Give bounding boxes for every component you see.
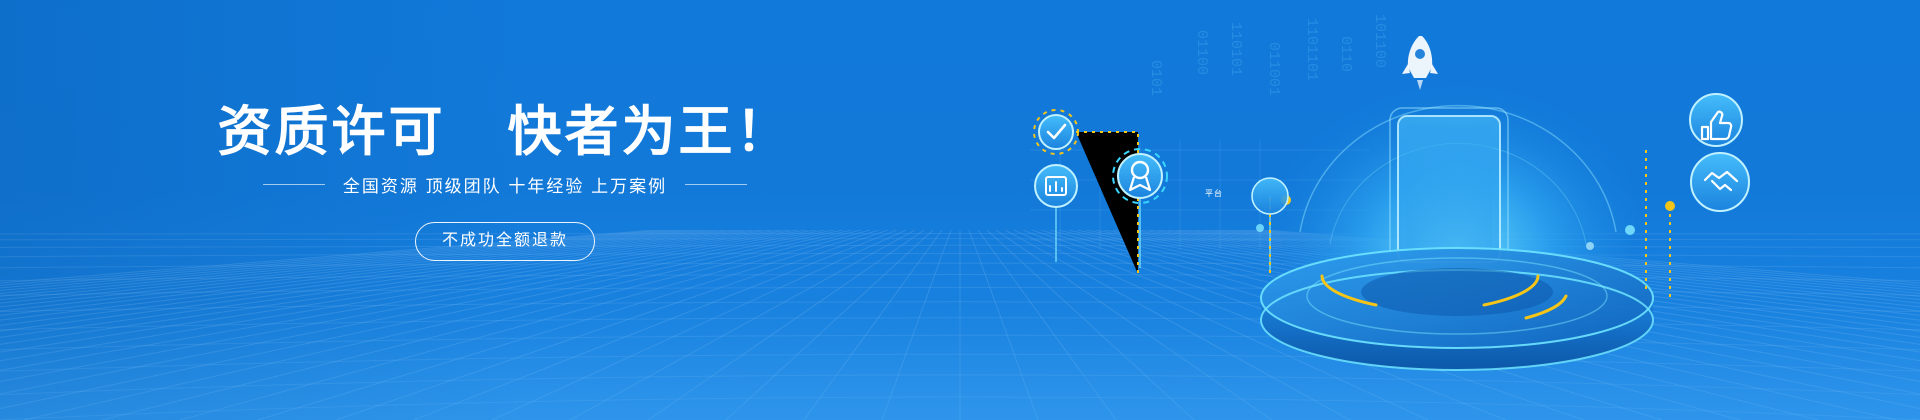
chart-icon	[1035, 165, 1077, 207]
svg-text:0110: 0110	[1337, 36, 1354, 72]
copy-block: 资质许可 快者为王！ 全国资源 顶级团队 十年经验 上万案例 不成功全额退款	[0, 0, 1010, 420]
dotted-connectors	[1076, 132, 1270, 278]
svg-text:0101: 0101	[1147, 60, 1164, 96]
subtitle-text: 全国资源 顶级团队 十年经验 上万案例	[343, 172, 667, 197]
svg-text:01100: 01100	[1193, 30, 1210, 75]
binary-backdrop: 01100 110101 011001 1101101 0110 101100 …	[1147, 14, 1388, 96]
dotted-connectors-right	[1646, 150, 1670, 300]
dot-marker	[1665, 201, 1675, 211]
svg-text:1101101: 1101101	[1303, 18, 1320, 81]
check-circle-icon	[1034, 110, 1078, 154]
cta-row: 不成功全额退款	[0, 222, 1010, 261]
refund-guarantee-button[interactable]: 不成功全额退款	[415, 222, 595, 261]
platform-badge	[1252, 178, 1288, 214]
platform-label: 平台	[1205, 188, 1223, 199]
headline-part2: 快者为王！	[508, 102, 793, 162]
svg-text:011001: 011001	[1265, 42, 1282, 96]
rule-right	[685, 184, 747, 185]
rule-left	[263, 184, 325, 185]
platform-disc	[1261, 248, 1653, 370]
thumbs-up-icon	[1690, 94, 1742, 146]
hero-illustration: 01100 110101 011001 1101101 0110 101100 …	[970, 0, 1920, 420]
tablet-device	[1390, 108, 1508, 270]
headline-part1: 资质许可	[217, 102, 445, 162]
dot-marker	[1256, 224, 1264, 232]
svg-text:101100: 101100	[1371, 14, 1388, 68]
subtitle-row: 全国资源 顶级团队 十年经验 上万案例	[0, 172, 1010, 197]
dot-marker	[1586, 242, 1594, 250]
handshake-icon	[1691, 153, 1749, 211]
page-title: 资质许可 快者为王！	[0, 102, 1010, 162]
dot-marker	[1625, 225, 1635, 235]
promo-banner: 01100 110101 011001 1101101 0110 101100 …	[0, 0, 1920, 420]
svg-text:110101: 110101	[1227, 22, 1244, 76]
